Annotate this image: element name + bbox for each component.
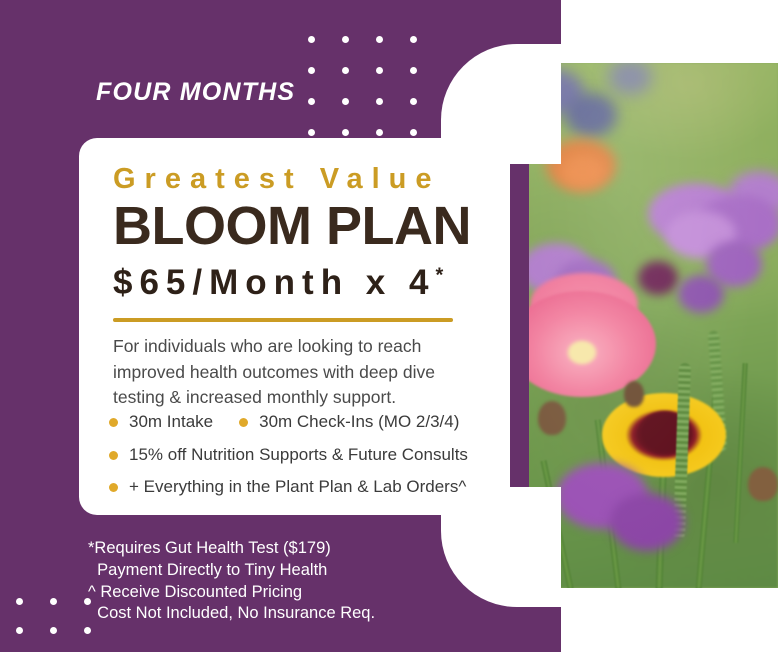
price-value: $65/Month x 4 [113, 263, 435, 302]
decorative-dot [410, 129, 417, 136]
list-item: 30m Intake 30m Check-Ins (MO 2/3/4) [109, 413, 504, 432]
plan-price: $65/Month x 4* [113, 263, 443, 303]
bullet-dot-icon [109, 483, 118, 492]
list-item: 15% off Nutrition Supports & Future Cons… [109, 446, 504, 465]
feature-text: 30m Check-Ins (MO 2/3/4) [259, 413, 459, 432]
dot-grid-bottom [16, 598, 91, 652]
feature-text: + Everything in the Plant Plan & Lab Ord… [129, 478, 466, 497]
decorative-dot [16, 598, 23, 605]
list-item: + Everything in the Plant Plan & Lab Ord… [109, 478, 504, 497]
decorative-dot [342, 67, 349, 74]
decorative-dot [308, 129, 315, 136]
decorative-dot [342, 129, 349, 136]
bullet-dot-icon [109, 451, 118, 460]
price-asterisk: * [435, 264, 443, 286]
bullet-dot-icon [239, 418, 248, 427]
decorative-dot [16, 627, 23, 634]
decorative-dot [308, 36, 315, 43]
feature-text: 30m Intake [129, 413, 213, 432]
eyebrow-label: FOUR MONTHS [96, 78, 295, 107]
decorative-dot [50, 627, 57, 634]
decorative-dot [410, 98, 417, 105]
decorative-dot [376, 67, 383, 74]
decorative-dot [376, 36, 383, 43]
plan-title: BLOOM PLAN [113, 199, 471, 253]
decorative-dot [376, 98, 383, 105]
purple-bottom-trim [441, 607, 561, 652]
plan-kicker: Greatest Value [113, 163, 441, 196]
purple-top-trim [441, 0, 561, 44]
footnote-line: Payment Directly to Tiny Health [88, 560, 375, 582]
decorative-dot [342, 36, 349, 43]
pricing-poster: FOUR MONTHS Greatest Value BLOOM PLAN $6… [0, 0, 778, 652]
footnote-line: ^ Receive Discounted Pricing [88, 582, 375, 604]
list-item-secondary: 30m Check-Ins (MO 2/3/4) [239, 413, 459, 432]
plan-card: Greatest Value BLOOM PLAN $65/Month x 4*… [79, 138, 510, 515]
decorative-dot [342, 98, 349, 105]
plan-feature-list: 30m Intake 30m Check-Ins (MO 2/3/4) 15% … [109, 413, 504, 511]
dot-grid-top [308, 36, 417, 136]
bullet-dot-icon [109, 418, 118, 427]
footnote-line: *Requires Gut Health Test ($179) [88, 538, 375, 560]
footnotes-block: *Requires Gut Health Test ($179) Payment… [88, 538, 375, 625]
decorative-dot [376, 129, 383, 136]
decorative-dot [308, 98, 315, 105]
decorative-dot [308, 67, 315, 74]
decorative-dot [84, 627, 91, 634]
plan-description: For individuals who are looking to reach… [113, 334, 481, 411]
decorative-dot [50, 598, 57, 605]
decorative-dot [410, 67, 417, 74]
footnote-line: Cost Not Included, No Insurance Req. [88, 603, 375, 625]
decorative-dot [410, 36, 417, 43]
gold-divider [113, 318, 453, 322]
feature-text: 15% off Nutrition Supports & Future Cons… [129, 446, 468, 465]
